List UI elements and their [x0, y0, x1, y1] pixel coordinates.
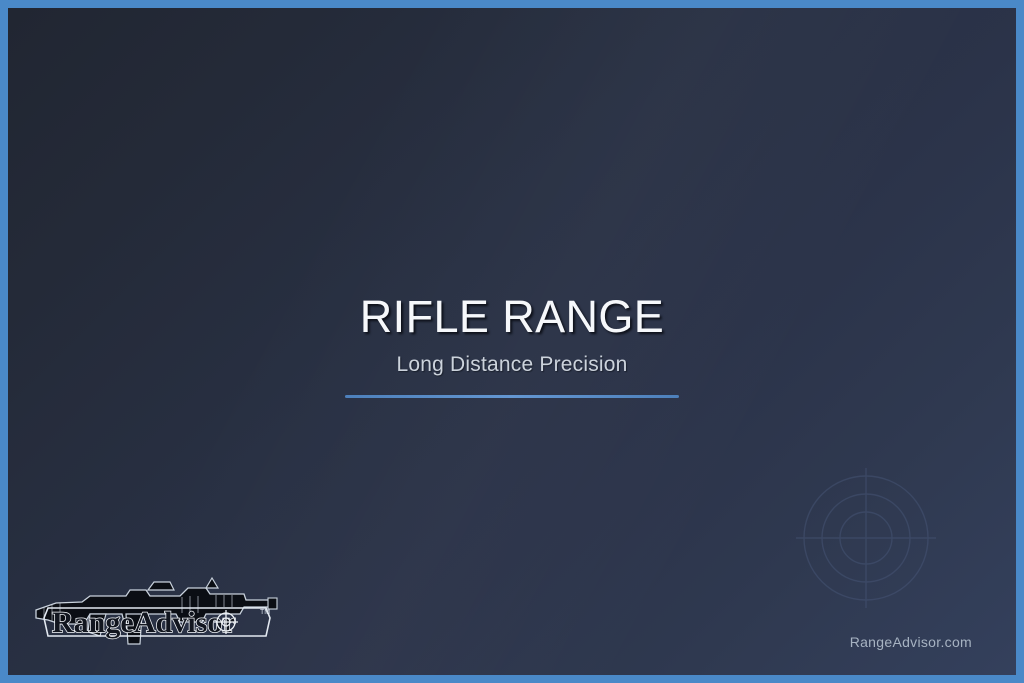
brand-logo: Range Advisor TM [30, 574, 280, 658]
crosshair-reticle-icon [796, 468, 936, 608]
logo-word-range: Range [52, 606, 134, 639]
logo-trademark: TM [260, 609, 270, 616]
accent-divider [345, 395, 679, 398]
page-title: RIFLE RANGE [8, 294, 1016, 341]
presentation-slide: RIFLE RANGE Long Distance Precision [0, 0, 1024, 683]
title-block: RIFLE RANGE Long Distance Precision [8, 294, 1016, 398]
footer-url: RangeAdvisor.com [850, 634, 972, 650]
page-subtitle: Long Distance Precision [8, 353, 1016, 377]
